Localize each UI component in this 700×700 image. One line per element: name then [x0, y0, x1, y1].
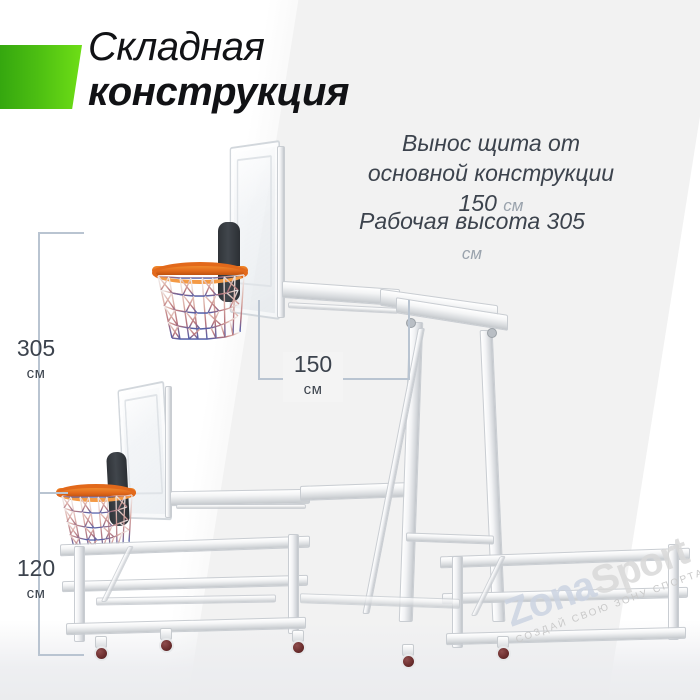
folded-tie-bar	[176, 504, 306, 509]
green-accent-shape	[0, 45, 82, 109]
pivot-bolt-right	[487, 328, 497, 338]
caster-wheel-2	[291, 640, 306, 655]
promo-image: 305 см 120 см 150 см Складная конструкци…	[0, 0, 700, 700]
dimension-label-120: 120 см	[8, 556, 64, 606]
vertical-dimension-top-tick	[38, 232, 84, 234]
dimension-150-unit: см	[283, 377, 343, 402]
dimension-150-value: 150	[294, 351, 332, 377]
caster-wheel-3	[401, 654, 416, 669]
page-title: Складная конструкция	[88, 26, 388, 114]
page-title-line1: Складная	[88, 26, 388, 68]
dimension-120-unit: см	[8, 581, 64, 606]
caster-wheel-1	[94, 646, 109, 661]
callout-working-height-text: Рабочая высота 305	[359, 208, 585, 234]
base-right-post-b	[668, 544, 679, 640]
dimension-label-305: 305 см	[8, 336, 64, 386]
backboard-folded-inner	[124, 394, 163, 495]
horizontal-dimension-right-tick	[408, 300, 410, 380]
callout-working-height-unit: см	[462, 244, 482, 263]
page-title-line2: конструкция	[88, 70, 388, 114]
callout-board-offset-text: Вынос щита от основной конструкции 150	[368, 130, 614, 216]
vertical-dimension-mid-tick	[38, 492, 68, 494]
vertical-dimension-bottom-tick	[38, 654, 84, 656]
net-raised	[156, 274, 246, 340]
dimension-305-unit: см	[8, 361, 64, 386]
dimension-label-150: 150 см	[283, 352, 343, 402]
callout-working-height: Рабочая высота 305 см	[352, 206, 592, 269]
dimension-305-value: 305	[17, 335, 55, 361]
caster-wheel-5	[159, 638, 174, 653]
horizontal-dimension-left-tick	[258, 300, 260, 380]
dimension-120-value: 120	[17, 555, 55, 581]
caster-wheel-4	[496, 646, 511, 661]
